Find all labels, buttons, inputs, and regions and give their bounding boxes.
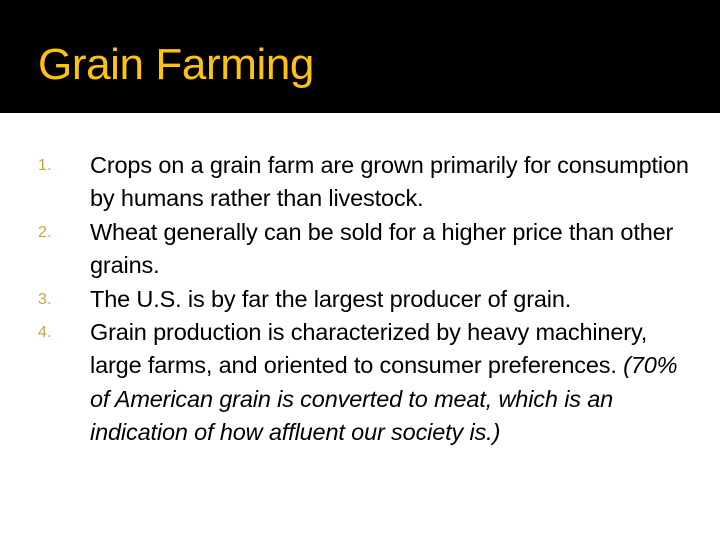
bullet-number-4: 4.: [38, 316, 72, 349]
slide: Grain Farming 1. Crops on a grain farm a…: [0, 0, 720, 540]
bullet-text-3: The U.S. is by far the largest producer …: [90, 283, 698, 316]
bullet-text-1: Crops on a grain farm are grown primaril…: [90, 149, 698, 216]
bullet-text-2: Wheat generally can be sold for a higher…: [90, 216, 698, 283]
numbered-bullet-list: 1. Crops on a grain farm are grown prima…: [36, 149, 698, 450]
bullet-text-4: Grain production is characterized by hea…: [90, 316, 698, 450]
bullet-text-4-main: Grain production is characterized by hea…: [90, 319, 647, 378]
page-title: Grain Farming: [38, 39, 314, 91]
list-item: 3. The U.S. is by far the largest produc…: [36, 283, 698, 316]
bullet-number-3: 3.: [38, 283, 72, 316]
bullet-number-1: 1.: [38, 149, 72, 182]
list-item: 2. Wheat generally can be sold for a hig…: [36, 216, 698, 283]
bullet-number-2: 2.: [38, 216, 72, 249]
slide-body: 1. Crops on a grain farm are grown prima…: [0, 113, 720, 540]
list-item: 4. Grain production is characterized by …: [36, 316, 698, 450]
list-item: 1. Crops on a grain farm are grown prima…: [36, 149, 698, 216]
